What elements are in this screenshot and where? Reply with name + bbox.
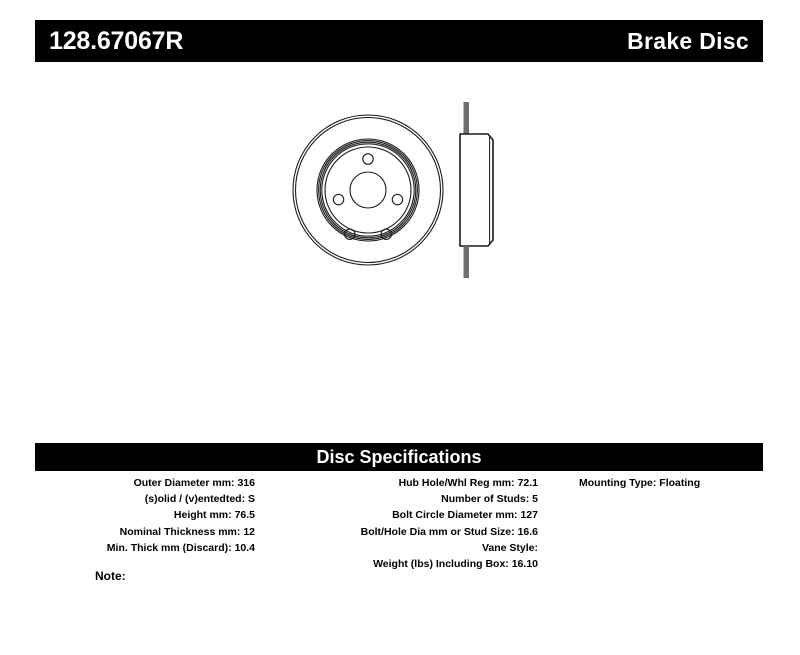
spec-label: Bolt Circle Diameter mm: [392,509,520,521]
spec-label: Mounting Type: [579,477,659,489]
title-bar: 128.67067R Brake Disc [35,20,763,62]
spec-value: 76.5 [235,509,255,521]
spec-value: 5 [532,493,538,505]
brake-disc-side-profile-view [460,102,493,278]
spec-row: Nominal Thickness mm: 12 [35,524,255,540]
spec-row: Number of Studs: 5 [263,491,538,507]
spec-label: Outer Diameter mm: [134,477,238,489]
spec-row: Bolt/Hole Dia mm or Stud Size: 16.6 [263,524,538,540]
spec-label: (s)olid / (v)entedted: [145,493,248,505]
spec-label: Vane Style: [482,542,538,554]
spec-row: Hub Hole/Whl Reg mm: 72.1 [263,475,538,491]
spec-label: Hub Hole/Whl Reg mm: [399,477,518,489]
spec-label: Bolt/Hole Dia mm or Stud Size: [361,526,518,538]
spec-label: Number of Studs: [441,493,532,505]
spec-label: Weight (lbs) Including Box: [373,558,512,570]
brake-disc-drawing-svg [260,90,540,300]
spec-row: Vane Style: [263,540,538,556]
spec-value: 127 [520,509,538,521]
spec-value: 72.1 [518,477,538,489]
spec-value: 16.10 [512,558,538,570]
product-type-label: Brake Disc [627,30,749,53]
specifications-title: Disc Specifications [316,448,481,466]
spec-row: Weight (lbs) Including Box: 16.10 [263,556,538,572]
spec-column-middle: Hub Hole/Whl Reg mm: 72.1 Number of Stud… [263,475,538,572]
spec-row: Min. Thick mm (Discard): 10.4 [35,540,255,556]
spec-value: Floating [659,477,700,489]
spec-value: 16.6 [518,526,538,538]
spec-column-left: Outer Diameter mm: 316 (s)olid / (v)ente… [35,475,255,556]
technical-drawing [260,90,540,300]
spec-value: 10.4 [235,542,255,554]
spec-sheet-page: 128.67067R Brake Disc [0,0,800,655]
spec-label: Min. Thick mm (Discard): [107,542,235,554]
spec-row: Bolt Circle Diameter mm: 127 [263,507,538,523]
spec-row: Mounting Type: Floating [555,475,798,491]
spec-value: 316 [237,477,255,489]
spec-row: Height mm: 76.5 [35,507,255,523]
note-field: Note: [95,570,126,582]
spec-row: (s)olid / (v)entedted: S [35,491,255,507]
note-label: Note: [95,569,126,583]
specifications-body: Outer Diameter mm: 316 (s)olid / (v)ente… [35,475,763,585]
spec-column-right: Mounting Type: Floating [555,475,798,491]
brake-disc-face-view [293,115,443,265]
part-number: 128.67067R [49,29,183,54]
spec-value: 12 [243,526,255,538]
specifications-header-bar: Disc Specifications [35,443,763,471]
spec-label: Height mm: [174,509,235,521]
spec-value: S [248,493,255,505]
spec-label: Nominal Thickness mm: [120,526,244,538]
spec-row: Outer Diameter mm: 316 [35,475,255,491]
